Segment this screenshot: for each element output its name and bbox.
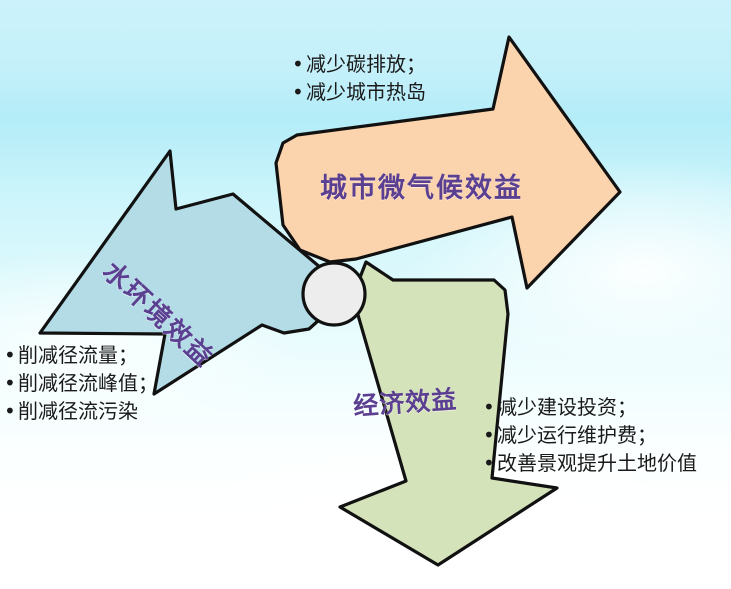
bullet-icon: • [4, 341, 18, 369]
bullet-icon: • [4, 397, 18, 425]
list-item-text: 减少运行维护费； [497, 423, 657, 447]
bullet-icon: • [483, 393, 497, 421]
hub-circle[interactable] [303, 263, 365, 325]
bullet-icon: • [483, 421, 497, 449]
list-item: •减少碳排放； [292, 50, 426, 78]
list-item: •削减径流量； [4, 341, 158, 369]
list-item-text: 削减径流污染 [18, 399, 138, 423]
bullet-icon: • [483, 449, 497, 477]
list-item: •减少运行维护费； [483, 421, 697, 449]
list-item-text: 减少建设投资； [497, 395, 637, 419]
list-item: •削减径流峰值； [4, 369, 158, 397]
list-item: •削减径流污染 [4, 397, 158, 425]
water-benefits-list: •削减径流量； •削减径流峰值； •削减径流污染 [4, 341, 158, 425]
bullet-icon: • [292, 78, 306, 106]
diagram-canvas: 城市微气候效益 水环境效益 经济效益 •减少碳排放； •减少城市热岛 •削减径流… [0, 0, 731, 589]
list-item: •减少城市热岛 [292, 78, 426, 106]
list-item: •改善景观提升土地价值 [483, 449, 697, 477]
arrow-label-microclimate: 城市微气候效益 [320, 166, 523, 205]
list-item-text: 减少城市热岛 [306, 80, 426, 104]
list-item-text: 削减径流量； [18, 343, 138, 367]
arrow-label-economic: 经济效益 [352, 380, 458, 423]
list-item: •减少建设投资； [483, 393, 697, 421]
list-item-text: 削减径流峰值； [18, 371, 158, 395]
list-item-text: 改善景观提升土地价值 [497, 451, 697, 475]
bullet-icon: • [4, 369, 18, 397]
bullet-icon: • [292, 50, 306, 78]
economic-benefits-list: •减少建设投资； •减少运行维护费； •改善景观提升土地价值 [483, 393, 697, 477]
microclimate-benefits-list: •减少碳排放； •减少城市热岛 [292, 50, 426, 106]
list-item-text: 减少碳排放； [306, 52, 426, 76]
